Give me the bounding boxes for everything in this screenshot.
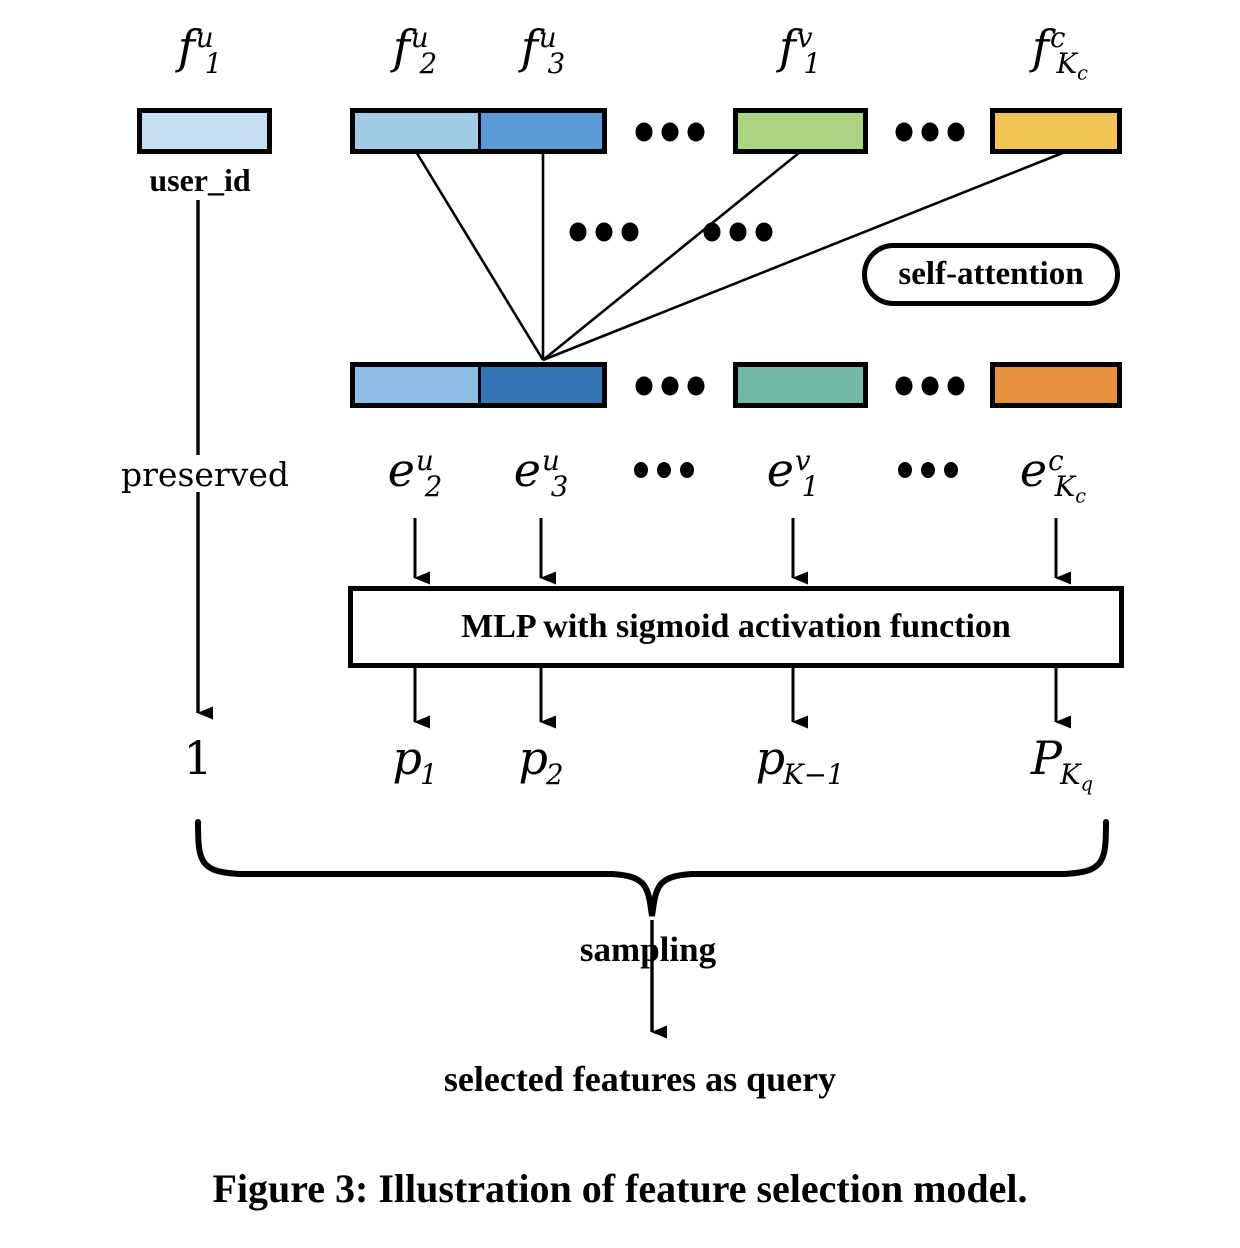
label-fKc-base: f xyxy=(1032,20,1049,74)
dot xyxy=(596,223,613,242)
feature-box-f1u[interactable] xyxy=(137,108,272,154)
ellipsis-row1-a xyxy=(636,123,705,142)
dot xyxy=(921,462,935,478)
embedding-box-eKc[interactable] xyxy=(990,362,1122,408)
dot xyxy=(704,223,721,242)
label-e2u-base: e xyxy=(388,443,415,497)
dot xyxy=(898,462,912,478)
label-fKc-sub: Kc xyxy=(1057,47,1088,80)
label-f1u-sub: 1 xyxy=(205,47,223,80)
label-pK-1-sub: K−1 xyxy=(783,758,844,791)
dot xyxy=(730,223,747,242)
ellipsis-row2-b xyxy=(896,377,965,396)
feature-box-f2u[interactable] xyxy=(350,108,481,154)
label-eKc: ecKc xyxy=(1020,447,1086,497)
label-p1-sub: 1 xyxy=(420,758,438,791)
feature-box-f3u[interactable] xyxy=(479,108,607,154)
dot xyxy=(662,377,679,396)
dot xyxy=(688,123,705,142)
figure-caption: Figure 3: Illustration of feature select… xyxy=(0,1165,1240,1212)
self-attention-module[interactable]: self-attention xyxy=(862,243,1120,306)
dot xyxy=(657,462,671,478)
label-f1u: fu1 xyxy=(178,24,222,70)
figure-root: fu1 fu2 fu3 fv1 fcKc user_id self-attent… xyxy=(0,0,1240,1248)
label-one: 1 xyxy=(183,735,212,781)
dot xyxy=(896,377,913,396)
dot xyxy=(636,377,653,396)
ellipsis-row1-b xyxy=(896,123,965,142)
label-f3u: fu3 xyxy=(521,24,565,70)
label-p2-base: p xyxy=(518,731,547,785)
mlp-output-arrows xyxy=(415,668,1056,722)
label-eKc-base: e xyxy=(1020,443,1047,497)
label-e3u: eu3 xyxy=(514,447,569,493)
label-f1v: fv1 xyxy=(779,24,821,70)
label-p1: p1 xyxy=(392,735,437,781)
label-eKc-subsub: c xyxy=(1075,485,1086,508)
label-pK-1-base: p xyxy=(756,731,785,785)
feature-box-f1v[interactable] xyxy=(733,108,868,154)
label-PKq-base: P xyxy=(1031,731,1062,785)
embedding-box-e1v[interactable] xyxy=(733,362,868,408)
label-one-base: 1 xyxy=(183,731,212,785)
self-attention-label: self-attention xyxy=(898,256,1083,293)
label-e3u-sub: 3 xyxy=(551,470,569,503)
label-p2-sub: 2 xyxy=(546,758,564,791)
dot xyxy=(948,377,965,396)
dot xyxy=(896,123,913,142)
label-e2u: eu2 xyxy=(388,447,443,493)
ellipsis-mid-a xyxy=(570,223,639,242)
label-e2u-sub: 2 xyxy=(425,470,443,503)
label-e1v: ev1 xyxy=(767,447,819,493)
label-f3u-base: f xyxy=(521,20,538,74)
dot xyxy=(688,377,705,396)
dot xyxy=(922,123,939,142)
ellipsis-elabels-a xyxy=(634,462,694,478)
user-id-caption: user_id xyxy=(149,162,250,199)
label-f2u-sub: 2 xyxy=(420,47,438,80)
ellipsis-elabels-b xyxy=(898,462,958,478)
label-PKq-subsub: q xyxy=(1081,773,1093,796)
ellipsis-mid-b xyxy=(704,223,773,242)
label-p1-base: p xyxy=(392,731,421,785)
ellipsis-row2-a xyxy=(636,377,705,396)
label-e3u-base: e xyxy=(514,443,541,497)
label-fKc-subsub: c xyxy=(1077,62,1088,85)
label-PKq-sub: Kq xyxy=(1060,758,1093,791)
label-eKc-sub: Kc xyxy=(1055,470,1086,503)
label-PKq-sub-main: K xyxy=(1060,758,1081,791)
label-e1v-sub: 1 xyxy=(802,470,820,503)
label-f1v-sub: 1 xyxy=(804,47,822,80)
dot xyxy=(756,223,773,242)
dot xyxy=(662,123,679,142)
mlp-module[interactable]: MLP with sigmoid activation function xyxy=(348,586,1124,668)
label-PKq: PKq xyxy=(1031,735,1093,785)
selected-features-label: selected features as query xyxy=(444,1058,836,1100)
label-f1u-base: f xyxy=(178,20,195,74)
label-f1v-base: f xyxy=(779,20,796,74)
dot xyxy=(922,377,939,396)
label-f2u: fu2 xyxy=(393,24,437,70)
label-pK-1: pK−1 xyxy=(756,735,845,781)
label-f2u-base: f xyxy=(393,20,410,74)
dot xyxy=(622,223,639,242)
dot xyxy=(680,462,694,478)
embedding-box-e3u[interactable] xyxy=(479,362,607,408)
label-e1v-base: e xyxy=(767,443,794,497)
dot xyxy=(944,462,958,478)
mlp-input-arrows xyxy=(415,518,1056,578)
dot xyxy=(636,123,653,142)
sampling-brace xyxy=(198,822,1106,916)
label-fKc-sub-main: K xyxy=(1057,47,1078,80)
label-fKc: fcKc xyxy=(1032,24,1088,74)
label-p2: p2 xyxy=(518,735,563,781)
label-eKc-sub-main: K xyxy=(1055,470,1076,503)
dot xyxy=(634,462,648,478)
mlp-label: MLP with sigmoid activation function xyxy=(461,608,1011,646)
dot xyxy=(570,223,587,242)
dot xyxy=(948,123,965,142)
label-f3u-sub: 3 xyxy=(548,47,566,80)
sampling-label: sampling xyxy=(580,930,716,970)
preserved-label: preserved xyxy=(121,455,289,494)
feature-box-fKc[interactable] xyxy=(990,108,1122,154)
embedding-box-e2u[interactable] xyxy=(350,362,481,408)
